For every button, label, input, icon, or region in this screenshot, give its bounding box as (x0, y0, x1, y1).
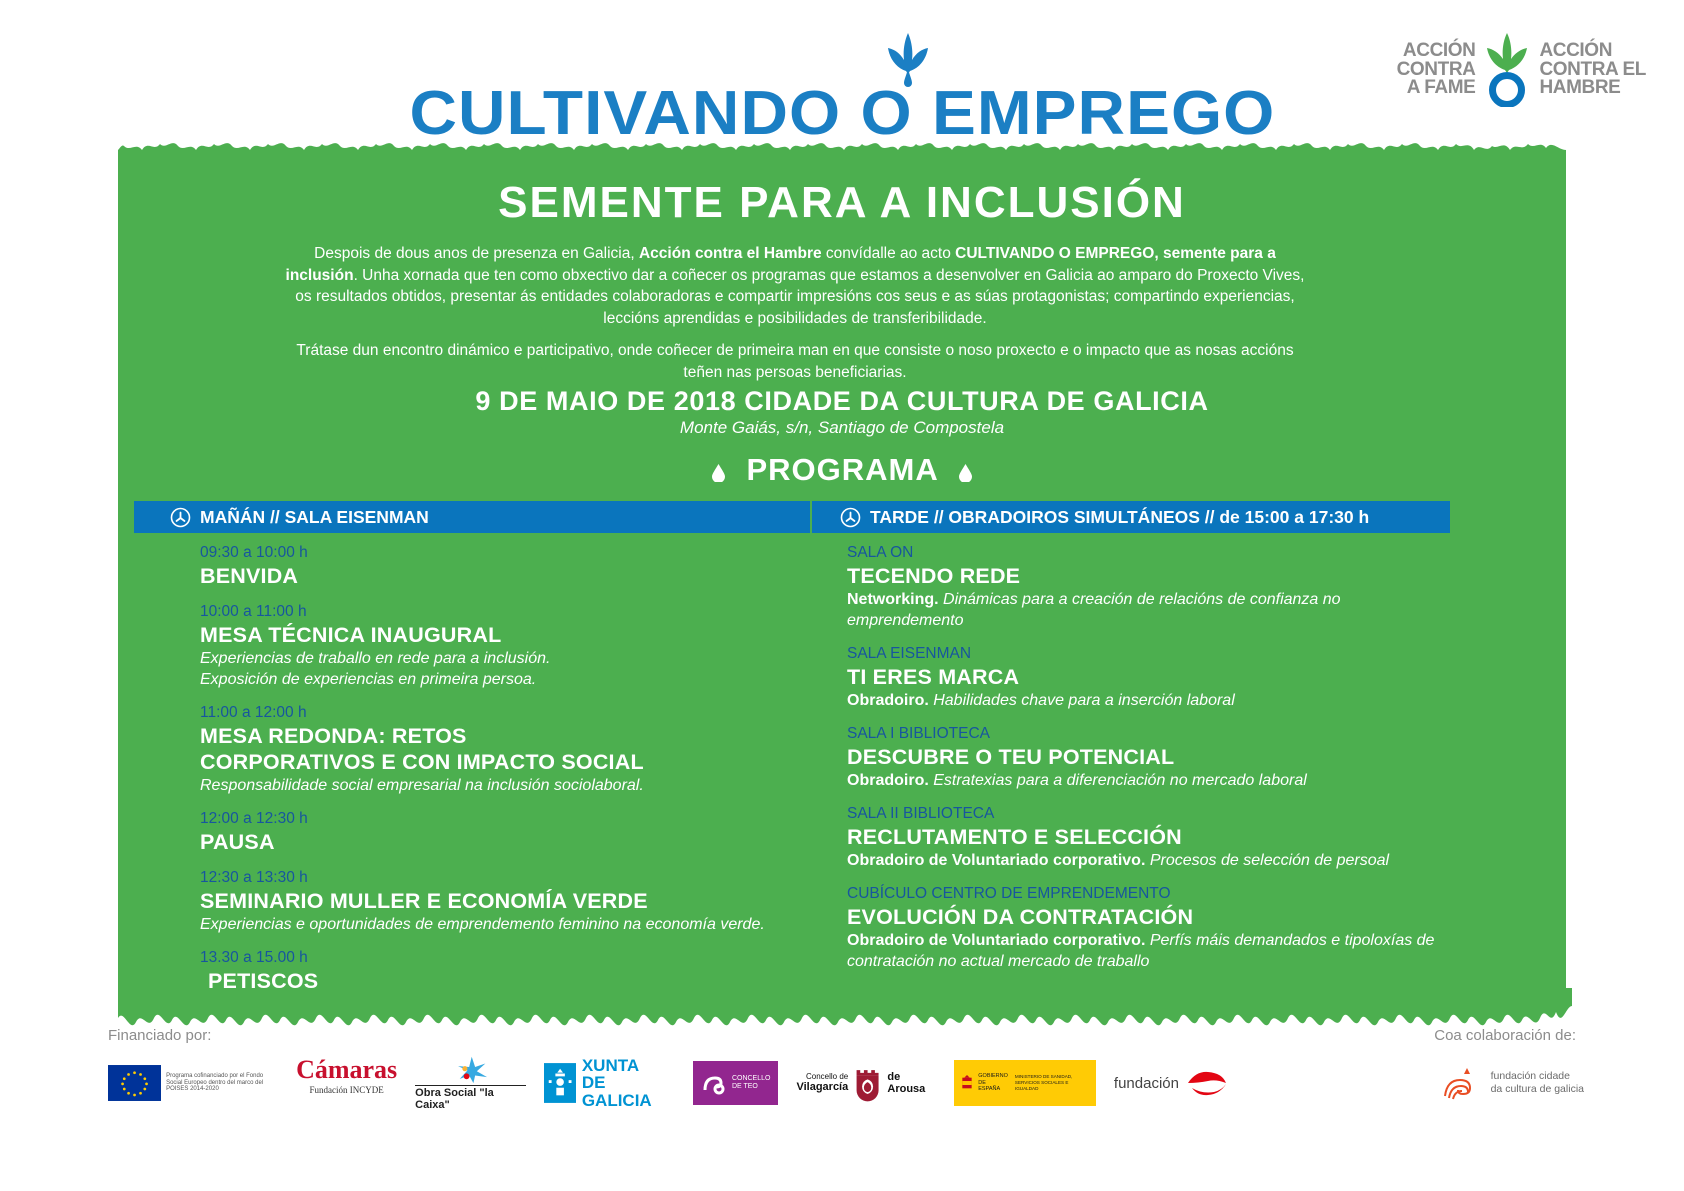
morning-item-time: 10:00 a 11:00 h (200, 602, 820, 622)
sponsor-xunta-text: XUNTADE GALICIA (582, 1057, 675, 1109)
afternoon-item: SALA II BIBLIOTECARECLUTAMENTO E SELECCI… (847, 804, 1447, 871)
morning-item: 09:30 a 10:00 hBENVIDA (200, 543, 820, 589)
teo-symbol-icon (701, 1070, 727, 1096)
morning-section-bar: MAÑÁN // SALA EISENMAN (134, 501, 810, 533)
clock-icon (840, 507, 861, 528)
afternoon-item-lead: Obradoiro. (847, 692, 929, 709)
morning-program-list: 09:30 a 10:00 hBENVIDA10:00 a 11:00 hMES… (200, 543, 820, 1007)
poster: ACCIÓN CONTRA A FAME ACCIÓN CONTRA EL HA… (0, 0, 1684, 1191)
afternoon-item-lead: Obradoiro. (847, 772, 929, 789)
programa-heading: PROGRAMA (0, 452, 1684, 488)
morning-item-description: Responsabilidade social empresarial na i… (200, 775, 820, 796)
sponsor-incyde-caption: Fundación INCYDE (310, 1085, 384, 1095)
afternoon-item-lead: Networking. (847, 591, 939, 608)
la-caixa-star-icon (442, 1055, 498, 1084)
collaborator-logo: fundación cidade da cultura de galicia (1439, 1052, 1584, 1114)
morning-item: 10:00 a 11:00 hMESA TÉCNICA INAUGURALExp… (200, 602, 820, 690)
afternoon-item-description: Obradoiro de Voluntariado corporativo. P… (847, 850, 1447, 871)
afternoon-item: SALA I BIBLIOTECADESCUBRE O TEU POTENCIA… (847, 724, 1447, 791)
morning-item-title: SEMINARIO MULLER E ECONOMÍA VERDE (200, 888, 820, 914)
afternoon-item-lead: Obradoiro de Voluntariado corporativo. (847, 932, 1145, 949)
event-date: 9 DE MAIO DE 2018 CIDADE DA CULTURA DE G… (0, 386, 1684, 417)
afternoon-item-lead: Obradoiro de Voluntariado corporativo. (847, 852, 1145, 869)
sponsor-concello-vilagarcia-de-arousa: Concello deVilagarcía de Arousa (796, 1055, 936, 1111)
sponsor-gobierno-de-espana: GOBIERNODE ESPAÑA MINISTERIO DE SANIDAD,… (954, 1055, 1096, 1111)
intro-paragraph-2: Trátase dun encontro dinámico e particip… (280, 340, 1310, 383)
sponsor-xunta-de-galicia: XUNTADE GALICIA (544, 1055, 675, 1111)
afternoon-program-list: SALA ONTECENDO REDENetworking. Dinámicas… (847, 543, 1447, 985)
afternoon-section-label: TARDE // OBRADOIROS SIMULTÁNEOS // de 15… (870, 507, 1369, 528)
afternoon-item-title: TECENDO REDE (847, 563, 1447, 589)
morning-item-title: MESA REDONDA: RETOSCORPORATIVOS E CON IM… (200, 723, 820, 775)
morning-item-time: 12:30 a 13:30 h (200, 868, 820, 888)
sponsor-obra-social-la-caixa: Obra Social "la Caixa" (415, 1055, 525, 1111)
afternoon-item-room: CUBÍCULO CENTRO DE EMPRENDEMENTO (847, 884, 1447, 904)
sponsor-logos: Programa cofinanciado por el Fondo Socia… (108, 1052, 1228, 1114)
morning-item: 12:30 a 13:30 hSEMINARIO MULLER E ECONOM… (200, 868, 820, 935)
xunta-emblem-icon (544, 1062, 576, 1104)
afternoon-item-description: Obradoiro. Estratexias para a diferencia… (847, 770, 1447, 791)
collaborator-line-2: da cultura de galicia (1491, 1083, 1584, 1096)
vilagarcia-crest-icon (852, 1063, 883, 1103)
sponsor-camaras-text: Cámaras (296, 1055, 397, 1085)
afternoon-item: SALA EISENMANTI ERES MARCAObradoiro. Hab… (847, 644, 1447, 711)
intro-p1-a: Despois de dous anos de presenza en Gali… (314, 245, 639, 262)
morning-item-title: PETISCOS (200, 968, 820, 994)
programa-label: PROGRAMA (746, 452, 937, 487)
morning-item-title: PAUSA (200, 829, 820, 855)
morning-item-title: BENVIDA (200, 563, 820, 589)
morning-item: 13.30 a 15.00 hPETISCOS (200, 948, 820, 994)
afternoon-item-description: Obradoiro. Habilidades chave para a inse… (847, 690, 1447, 711)
sponsor-union-europea: Programa cofinanciado por el Fondo Socia… (108, 1055, 278, 1111)
afternoon-item-room: SALA II BIBLIOTECA (847, 804, 1447, 824)
intro-paragraph-1: Despois de dous anos de presenza en Gali… (280, 243, 1310, 329)
intro-text: Despois de dous anos de presenza en Gali… (280, 243, 1310, 394)
sponsor-concello-de-teo: CONCELLODE TEO (693, 1055, 779, 1111)
sponsor-teo-text: CONCELLODE TEO (732, 1075, 771, 1092)
morning-item-time: 12:00 a 12:30 h (200, 809, 820, 829)
spain-coat-of-arms-icon (961, 1070, 973, 1096)
sponsor-union-europea-caption: Programa cofinanciado por el Fondo Socia… (166, 1073, 278, 1094)
sponsor-la-caixa-text: Obra Social "la Caixa" (415, 1085, 525, 1111)
morning-item-description: Experiencias e oportunidades de emprende… (200, 914, 820, 935)
sponsor-gobierno-text: GOBIERNODE ESPAÑA (978, 1073, 1008, 1094)
afternoon-item-room: SALA EISENMAN (847, 644, 1447, 664)
morning-item-time: 09:30 a 10:00 h (200, 543, 820, 563)
afternoon-item-room: SALA I BIBLIOTECA (847, 724, 1447, 744)
edp-logo-icon (1186, 1068, 1228, 1098)
afternoon-item-title: TI ERES MARCA (847, 664, 1447, 690)
morning-item: 11:00 a 12:00 hMESA REDONDA: RETOSCORPOR… (200, 703, 820, 796)
sponsor-fundacion-edp: fundación (1114, 1055, 1228, 1111)
cidade-da-cultura-icon (1439, 1062, 1481, 1104)
water-drop-icon-right (959, 464, 972, 482)
logo-right-line-1: ACCIÓN (1539, 42, 1646, 61)
water-drop-icon-left (712, 464, 725, 482)
intro-p1-e: . Unha xornada que ten como obxectivo da… (295, 267, 1304, 327)
afternoon-item-title: EVOLUCIÓN DA CONTRATACIÓN (847, 904, 1447, 930)
morning-section-label: MAÑÁN // SALA EISENMAN (200, 507, 429, 528)
sponsor-ministerio-caption: MINISTERIO DE SANIDAD, SERVICIOS SOCIALE… (1015, 1074, 1089, 1091)
sponsor-camaras-incyde: Cámaras Fundación INCYDE (296, 1055, 397, 1111)
morning-item: 12:00 a 12:30 hPAUSA (200, 809, 820, 855)
collaboration-label: Coa colaboración de: (1434, 1027, 1576, 1044)
afternoon-item-room: SALA ON (847, 543, 1447, 563)
morning-item-title: MESA TÉCNICA INAUGURAL (200, 622, 820, 648)
intro-p1-c: convídalle ao acto (822, 245, 956, 262)
logo-left-line-1: ACCIÓN (1397, 42, 1476, 61)
event-address: Monte Gaiás, s/n, Santiago de Compostela (0, 418, 1684, 438)
morning-item-description: Experiencias de traballo en rede para a … (200, 648, 820, 690)
afternoon-item: CUBÍCULO CENTRO DE EMPRENDEMENTOEVOLUCIÓ… (847, 884, 1447, 972)
afternoon-item-description: Networking. Dinámicas para a creación de… (847, 589, 1447, 631)
collaborator-line-1: fundación cidade (1491, 1070, 1584, 1083)
collaborator-text: fundación cidade da cultura de galicia (1491, 1070, 1584, 1096)
afternoon-item: SALA ONTECENDO REDENetworking. Dinámicas… (847, 543, 1447, 631)
morning-item-time: 11:00 a 12:00 h (200, 703, 820, 723)
afternoon-item-title: DESCUBRE O TEU POTENCIAL (847, 744, 1447, 770)
afternoon-section-bar: TARDE // OBRADOIROS SIMULTÁNEOS // de 15… (812, 501, 1450, 533)
intro-org-name: Acción contra el Hambre (639, 245, 822, 262)
afternoon-item-title: RECLUTAMENTO E SELECCIÓN (847, 824, 1447, 850)
clock-icon (170, 507, 191, 528)
morning-item-time: 13.30 a 15.00 h (200, 948, 820, 968)
financed-by-label: Financiado por: (108, 1027, 211, 1044)
afternoon-item-description: Obradoiro de Voluntariado corporativo. P… (847, 930, 1447, 972)
page-subtitle: SEMENTE PARA A INCLUSIÓN (0, 178, 1684, 228)
